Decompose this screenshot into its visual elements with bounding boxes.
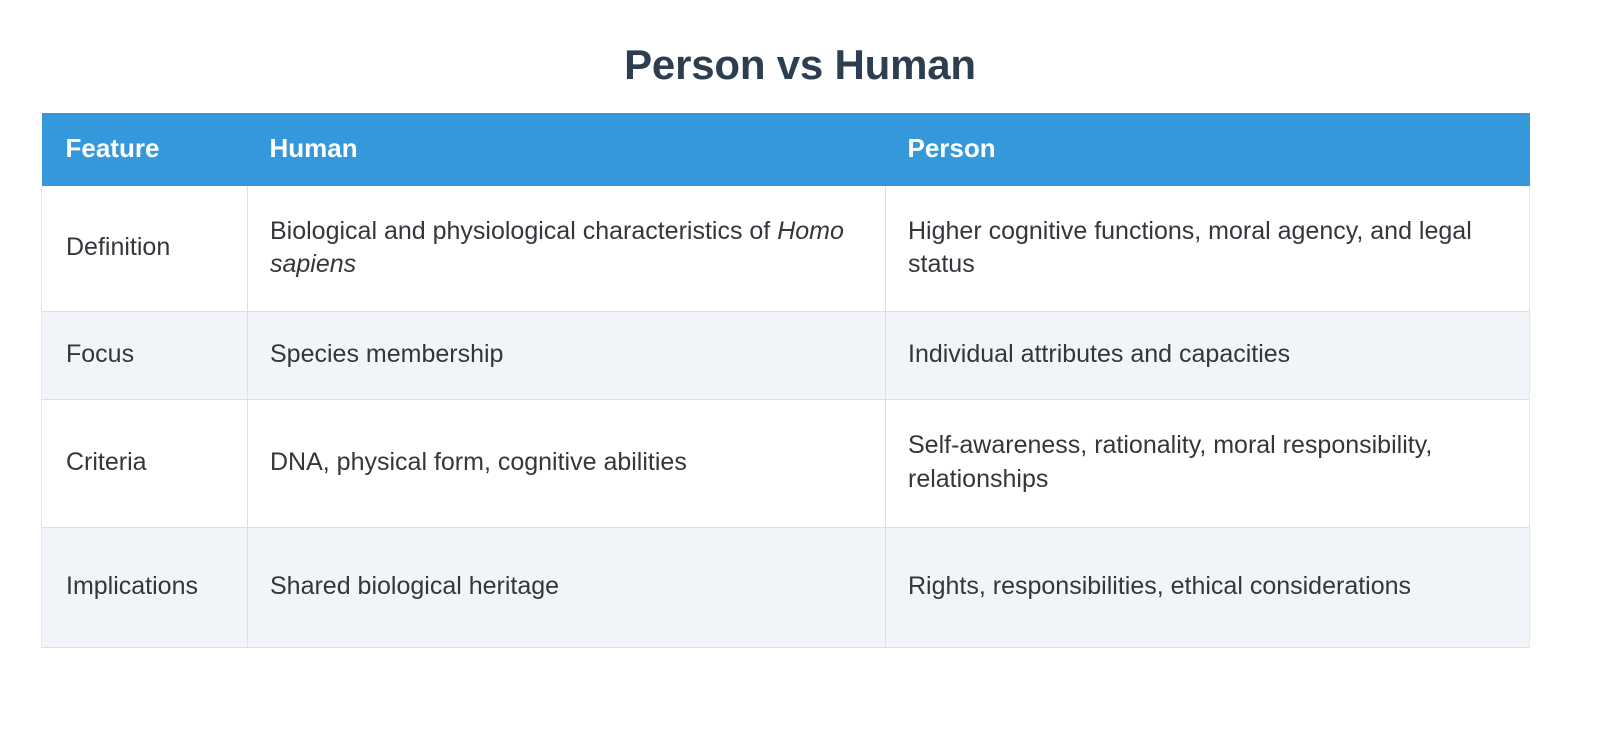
table-row: Focus Species membership Individual attr…	[42, 311, 1530, 399]
table-row: Implications Shared biological heritage …	[42, 527, 1530, 647]
table-row: Definition Biological and physiological …	[42, 186, 1530, 311]
page-root: Person vs Human Feature Human Person Def…	[0, 0, 1600, 732]
cell-person: Higher cognitive functions, moral agency…	[886, 186, 1530, 311]
table-row: Criteria DNA, physical form, cognitive a…	[42, 399, 1530, 527]
cell-feature: Focus	[42, 311, 248, 399]
cell-human: Species membership	[248, 311, 886, 399]
column-header-person: Person	[886, 113, 1530, 186]
cell-feature: Criteria	[42, 399, 248, 527]
comparison-table: Feature Human Person Definition Biologic…	[41, 113, 1530, 648]
comparison-table-container: Feature Human Person Definition Biologic…	[41, 113, 1529, 648]
table-header: Feature Human Person	[42, 113, 1530, 186]
page-title: Person vs Human	[0, 0, 1600, 86]
cell-human: DNA, physical form, cognitive abilities	[248, 399, 886, 527]
cell-feature: Definition	[42, 186, 248, 311]
table-body: Definition Biological and physiological …	[42, 186, 1530, 647]
column-header-human: Human	[248, 113, 886, 186]
cell-person: Individual attributes and capacities	[886, 311, 1530, 399]
cell-human-text-prefix: Biological and physiological characteris…	[270, 217, 777, 245]
cell-feature: Implications	[42, 527, 248, 647]
cell-human: Biological and physiological characteris…	[248, 186, 886, 311]
cell-human: Shared biological heritage	[248, 527, 886, 647]
cell-person: Rights, responsibilities, ethical consid…	[886, 527, 1530, 647]
cell-person: Self-awareness, rationality, moral respo…	[886, 399, 1530, 527]
column-header-feature: Feature	[42, 113, 248, 186]
table-header-row: Feature Human Person	[42, 113, 1530, 186]
